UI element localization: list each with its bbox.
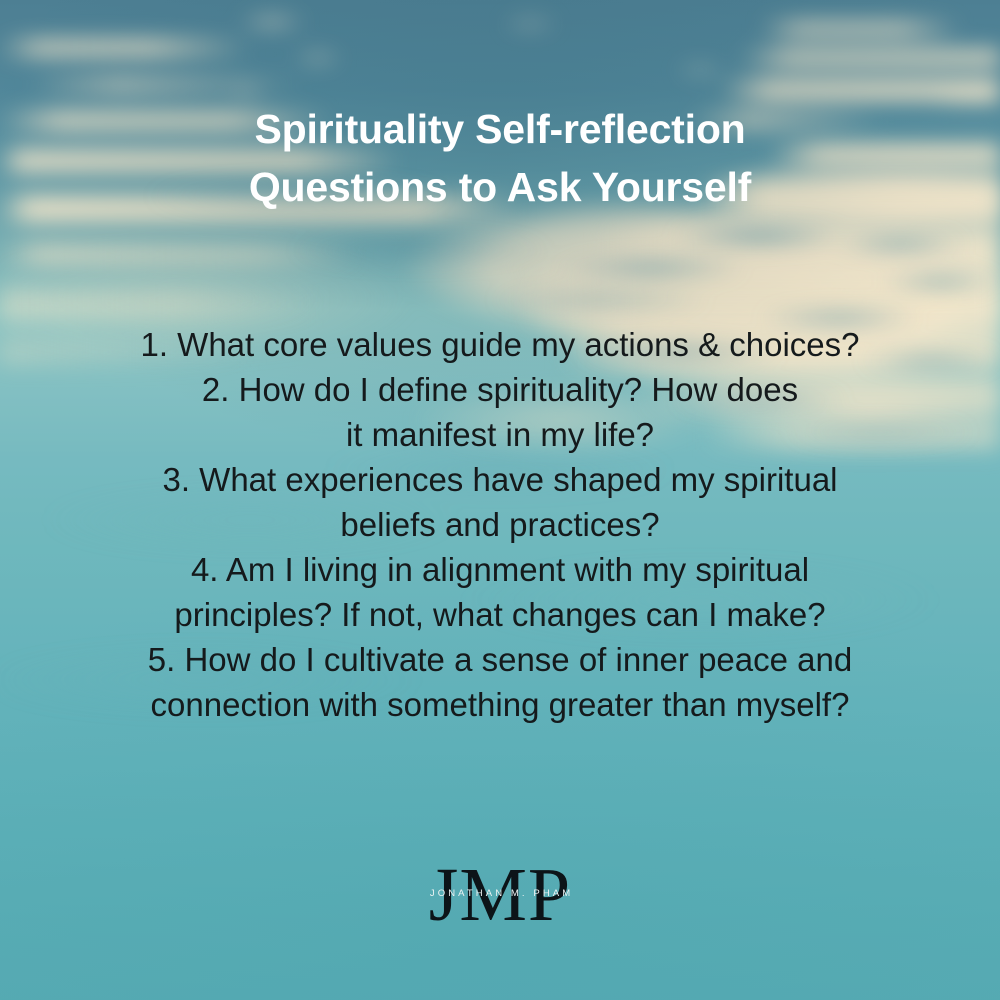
poster-content: Spirituality Self-reflection Questions t… — [0, 0, 1000, 1000]
poster-canvas: Spirituality Self-reflection Questions t… — [0, 0, 1000, 1000]
logo-name-jonathan-m-pham: JONATHAN M. PHAM — [407, 888, 593, 899]
page-title: Spirituality Self-reflection Questions t… — [0, 100, 1000, 216]
question-5-line-1: 5. How do I cultivate a sense of inner p… — [0, 637, 1000, 682]
brand-logo: JMP JONATHAN M. PHAM — [0, 852, 1000, 948]
question-5-line-2: connection with something greater than m… — [0, 682, 1000, 727]
logo-inner: JMP JONATHAN M. PHAM — [407, 852, 593, 948]
title-line-1: Spirituality Self-reflection — [0, 100, 1000, 158]
question-1-line-1: 1. What core values guide my actions & c… — [0, 322, 1000, 367]
question-4-line-2: principles? If not, what changes can I m… — [0, 592, 1000, 637]
question-4-line-1: 4. Am I living in alignment with my spir… — [0, 547, 1000, 592]
question-3-line-2: beliefs and practices? — [0, 502, 1000, 547]
question-2-line-2: it manifest in my life? — [0, 412, 1000, 457]
questions-list: 1. What core values guide my actions & c… — [0, 322, 1000, 727]
title-line-2: Questions to Ask Yourself — [0, 158, 1000, 216]
question-2-line-1: 2. How do I define spirituality? How doe… — [0, 367, 1000, 412]
question-3-line-1: 3. What experiences have shaped my spiri… — [0, 457, 1000, 502]
